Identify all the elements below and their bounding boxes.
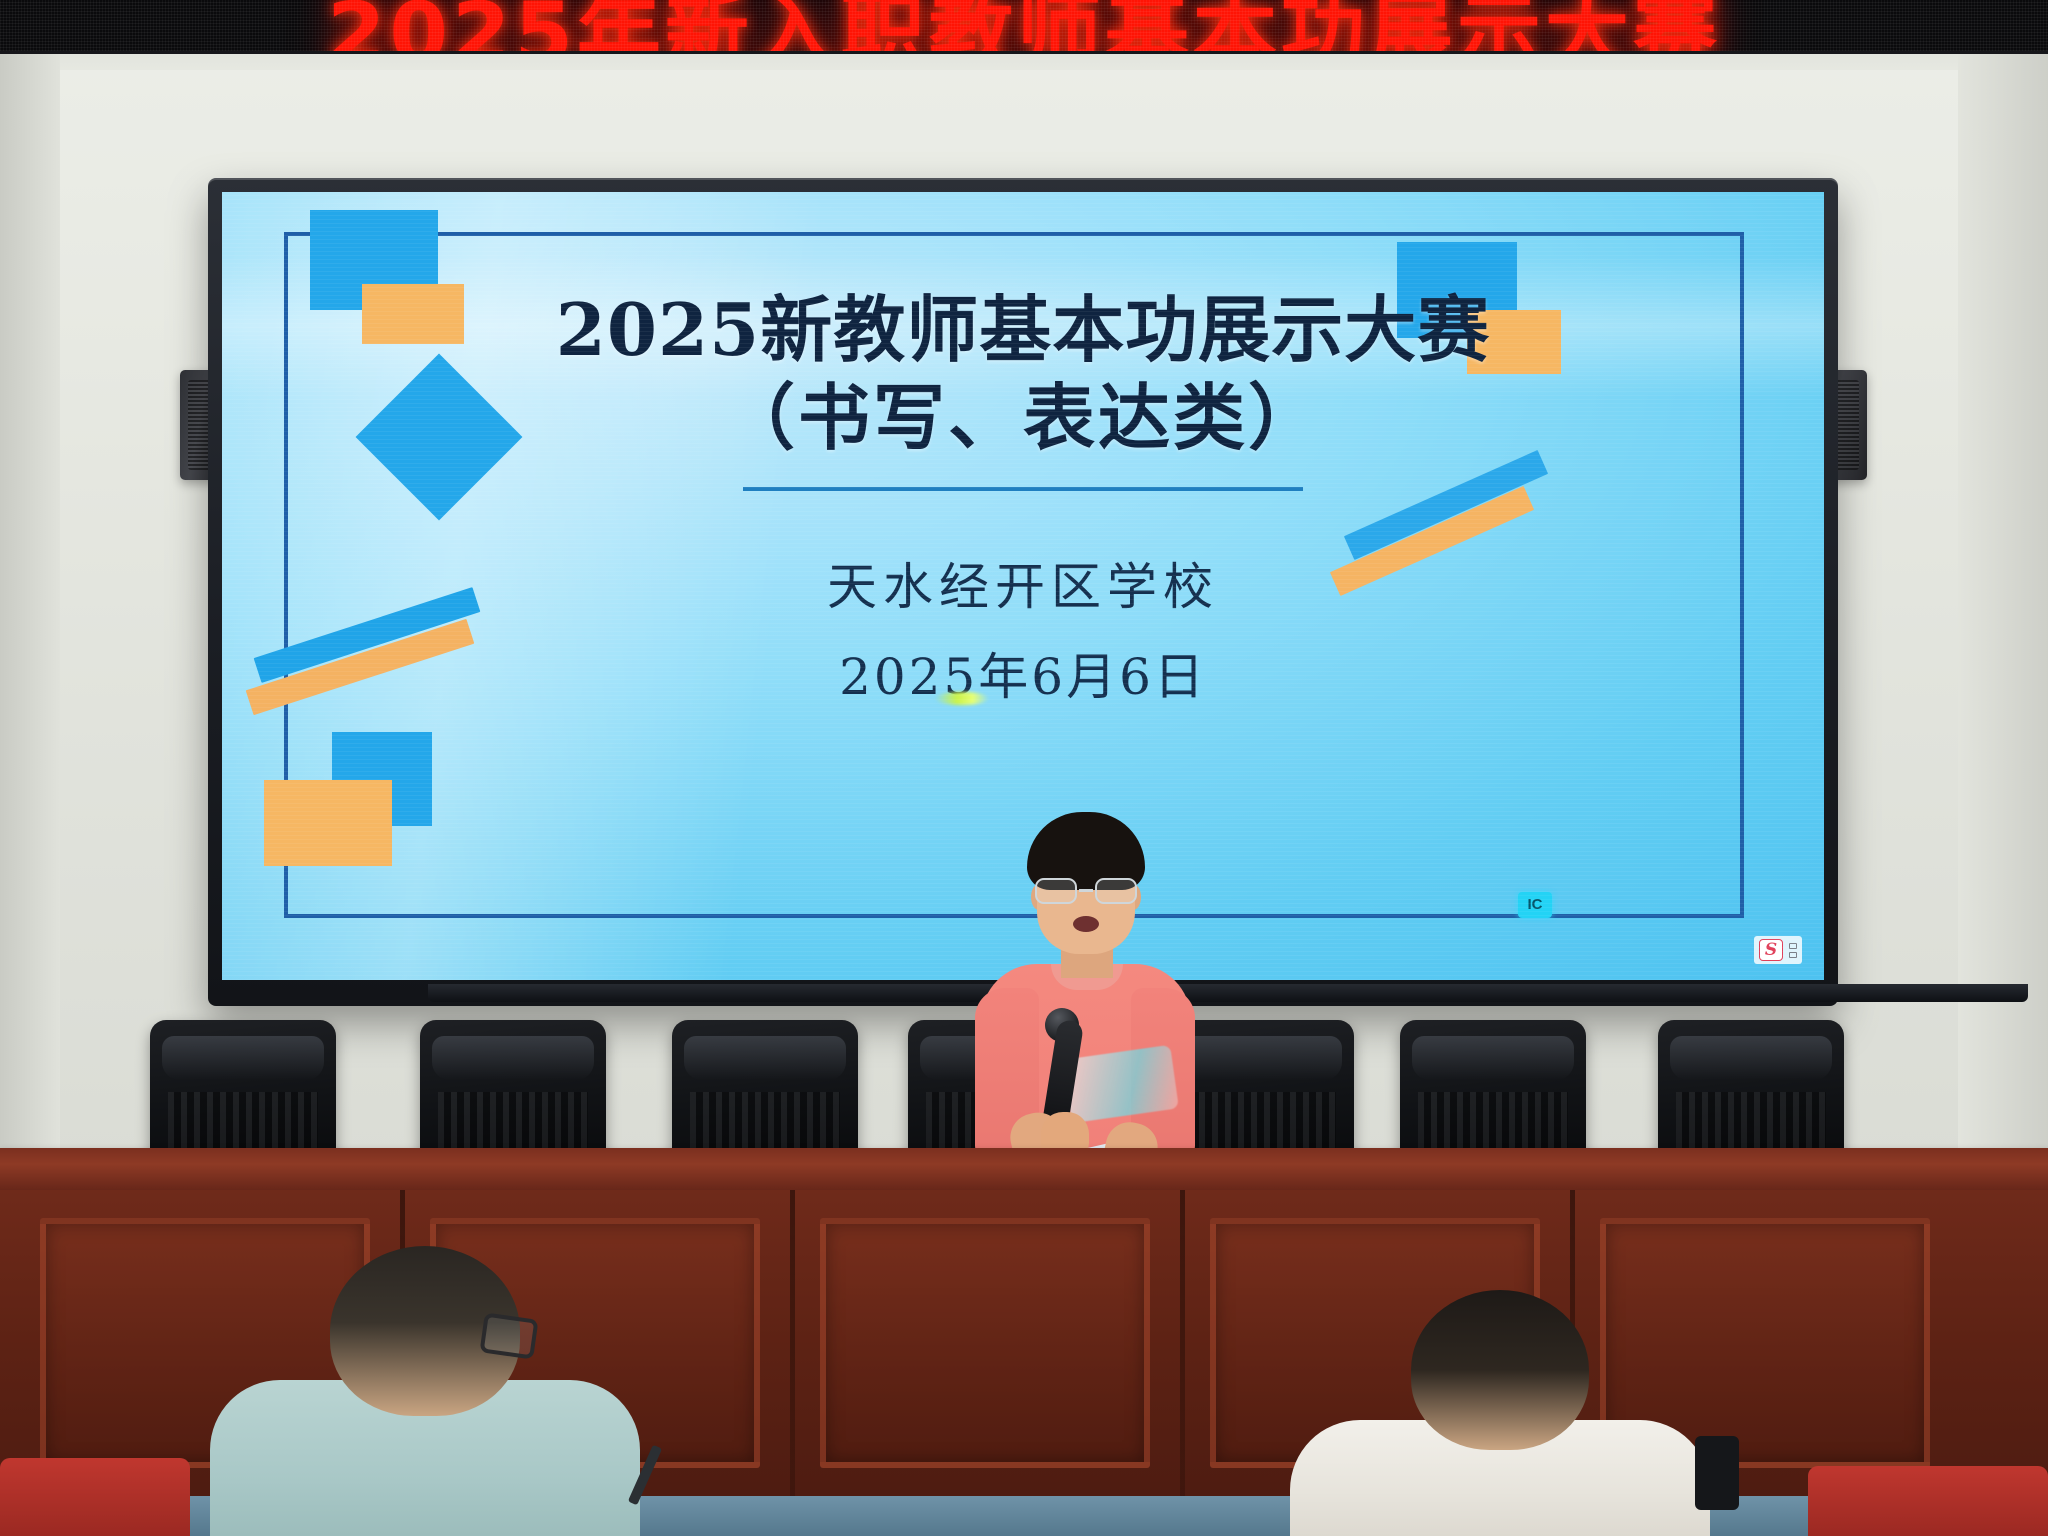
phone-icon — [1695, 1436, 1739, 1510]
screen-bezel-bottom — [428, 984, 2028, 1002]
stage-chair — [420, 1020, 606, 1160]
slide-organization: 天水经开区学校 — [222, 547, 1824, 619]
audience-seat-right — [1808, 1466, 2048, 1536]
logo-dots-icon — [1789, 943, 1797, 958]
wall-edge-right — [1958, 0, 2048, 1180]
slide-date-wrapper: 2025年6月6日 — [839, 637, 1207, 709]
slide-title: 2025新教师基本功展示大赛 — [222, 288, 1824, 373]
audience-member-left — [210, 1230, 640, 1536]
stage-chair — [1168, 1020, 1354, 1160]
dais-panel-section — [820, 1218, 1150, 1468]
audience-seat-left — [0, 1458, 190, 1536]
dais-seam — [790, 1190, 795, 1536]
stage-chair — [1400, 1020, 1586, 1160]
led-banner: 2025年新入职教师基本功展示大赛 — [0, 0, 2048, 54]
slide-deco-orange-block-bottom-left — [264, 780, 392, 866]
s-logo-icon: S — [1759, 939, 1783, 961]
auditorium-scene: 2025年新入职教师基本功展示大赛 2025新教师基本功展示大赛 （书写、表达类… — [0, 0, 2048, 1536]
audience-right-head — [1411, 1290, 1589, 1450]
stage-chair — [150, 1020, 336, 1160]
laser-pointer-dot — [935, 692, 989, 705]
slide-divider-rule — [743, 487, 1303, 491]
slide-text-block: 2025新教师基本功展示大赛 （书写、表达类） 天水经开区学校 2025年6月6… — [222, 288, 1824, 709]
stage-chair — [1658, 1020, 1844, 1160]
dais-seam — [1180, 1190, 1185, 1536]
ic-badge-icon[interactable]: IC — [1518, 892, 1552, 918]
glasses-icon — [479, 1312, 538, 1359]
dais-top-surface — [0, 1148, 2048, 1194]
audience-member-right — [1290, 1280, 1710, 1536]
slide-subtitle: （书写、表达类） — [222, 373, 1824, 463]
glasses-icon — [1033, 878, 1139, 904]
slide-corner-logo-badge: S — [1754, 936, 1802, 964]
presenter-mouth — [1073, 916, 1099, 932]
wall-edge-left — [0, 0, 60, 1180]
slide-date: 2025年6月6日 — [839, 648, 1207, 706]
led-banner-text: 2025年新入职教师基本功展示大赛 — [327, 0, 1721, 54]
stage-chair — [672, 1020, 858, 1160]
